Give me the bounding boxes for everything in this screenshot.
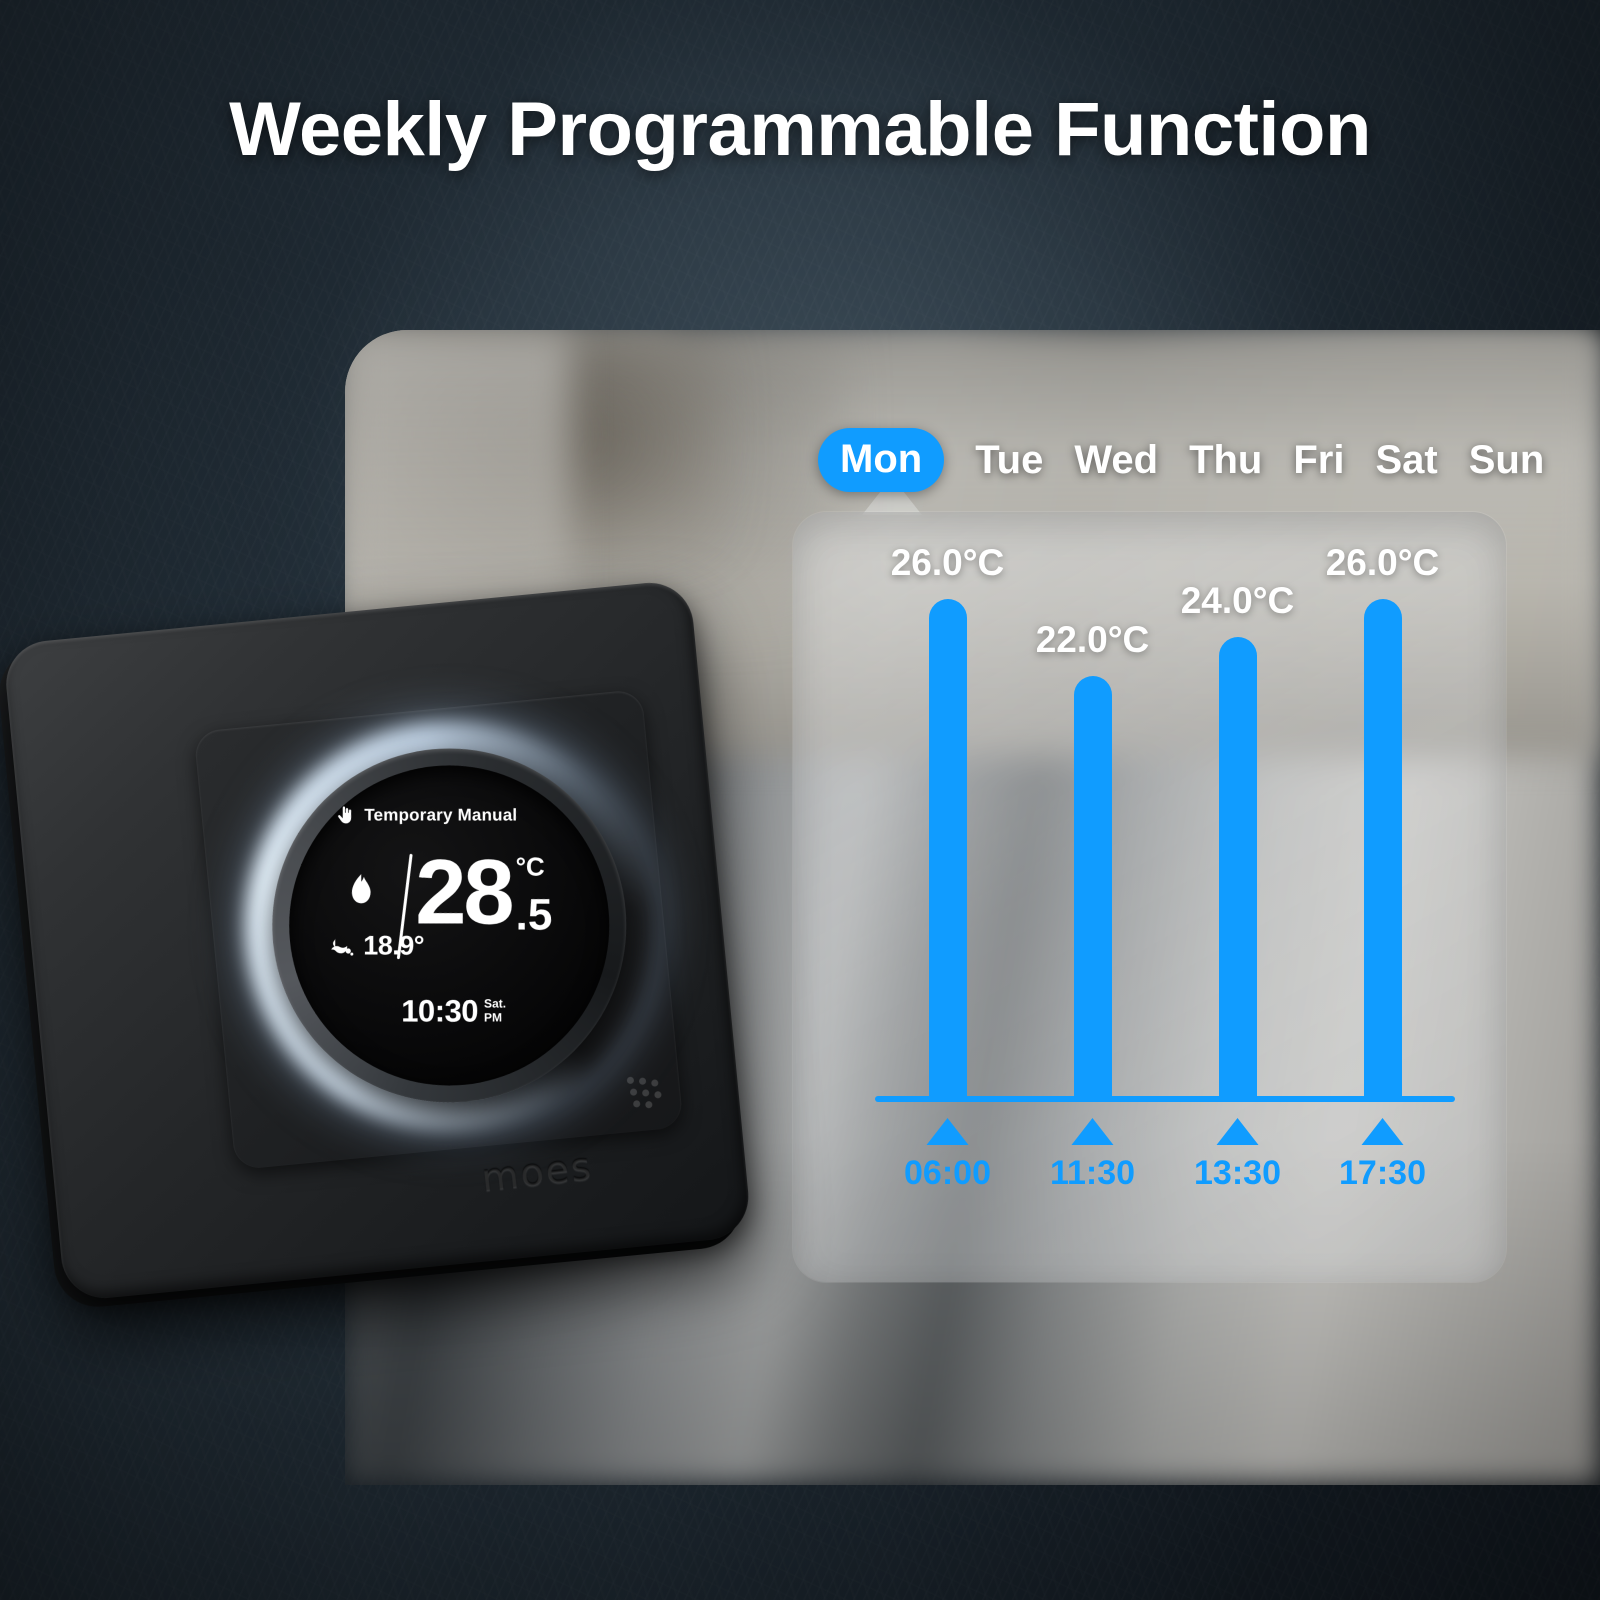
bar-group: 24.0°C [1219, 560, 1257, 1100]
display-mode-label: Temporary Manual [364, 806, 517, 826]
bar-value-label: 24.0°C [1181, 582, 1295, 619]
display-clock: 10:30 Sat. PM [401, 994, 506, 1030]
clock-time: 10:30 [401, 994, 478, 1030]
time-label: 13:30 [1194, 1156, 1281, 1190]
bar-value-label: 26.0°C [891, 544, 1005, 581]
setpoint-temperature: 28 °C .5 [415, 854, 552, 936]
setpoint-decimal: .5 [516, 896, 553, 936]
day-tab-mon[interactable]: Mon [818, 428, 944, 492]
ambient-temperature-value: 18.9° [363, 931, 424, 962]
schedule-plot-area: 26.0°C22.0°C24.0°C26.0°C [875, 560, 1455, 1100]
time-marker[interactable]: 17:30 [1339, 1118, 1426, 1190]
day-tab-sat[interactable]: Sat [1376, 438, 1438, 482]
floor-heating-icon [329, 935, 355, 957]
day-tab-sun[interactable]: Sun [1469, 438, 1545, 482]
time-marker[interactable]: 13:30 [1194, 1118, 1281, 1190]
clock-day: Sat. [484, 998, 506, 1012]
ambient-temperature-row: 18.9° [329, 931, 424, 962]
triangle-up-icon [927, 1118, 969, 1145]
bar-value-label: 26.0°C [1326, 544, 1440, 581]
setpoint-unit: °C [516, 854, 545, 880]
sensor-dots [627, 1073, 670, 1111]
time-marker[interactable]: 06:00 [904, 1118, 991, 1190]
time-label: 11:30 [1050, 1156, 1135, 1190]
schedule-bar[interactable] [1364, 599, 1402, 1100]
triangle-up-icon [1217, 1118, 1259, 1145]
day-tab-bar[interactable]: MonTueWedThuFriSatSun [818, 428, 1544, 492]
triangle-up-icon [1072, 1118, 1114, 1145]
schedule-bar[interactable] [1219, 637, 1257, 1100]
flame-icon [347, 874, 375, 908]
time-label: 17:30 [1339, 1156, 1426, 1190]
chart-baseline [875, 1096, 1455, 1102]
bar-value-label: 22.0°C [1036, 621, 1150, 658]
day-tab-fri[interactable]: Fri [1293, 438, 1344, 482]
time-label: 06:00 [904, 1156, 991, 1190]
day-tab-thu[interactable]: Thu [1189, 438, 1262, 482]
hand-touch-icon [335, 806, 355, 826]
time-marker[interactable]: 11:30 [1050, 1118, 1135, 1190]
clock-meridiem: PM [484, 1011, 506, 1025]
bar-group: 22.0°C [1074, 560, 1112, 1100]
day-tab-tue[interactable]: Tue [975, 438, 1043, 482]
bar-group: 26.0°C [1364, 560, 1402, 1100]
triangle-up-icon [1362, 1118, 1404, 1145]
setpoint-integer: 28 [415, 854, 511, 933]
schedule-bar[interactable] [929, 599, 967, 1100]
day-tab-wed[interactable]: Wed [1074, 438, 1158, 482]
thermostat-device: Temporary Manual 28 °C .5 [0, 467, 776, 1322]
thermostat-display[interactable]: Temporary Manual 28 °C .5 [275, 751, 624, 1100]
page-title: Weekly Programmable Function [0, 86, 1600, 173]
display-mode-row: Temporary Manual [335, 806, 517, 826]
bar-group: 26.0°C [929, 560, 967, 1100]
schedule-bar[interactable] [1074, 676, 1112, 1100]
